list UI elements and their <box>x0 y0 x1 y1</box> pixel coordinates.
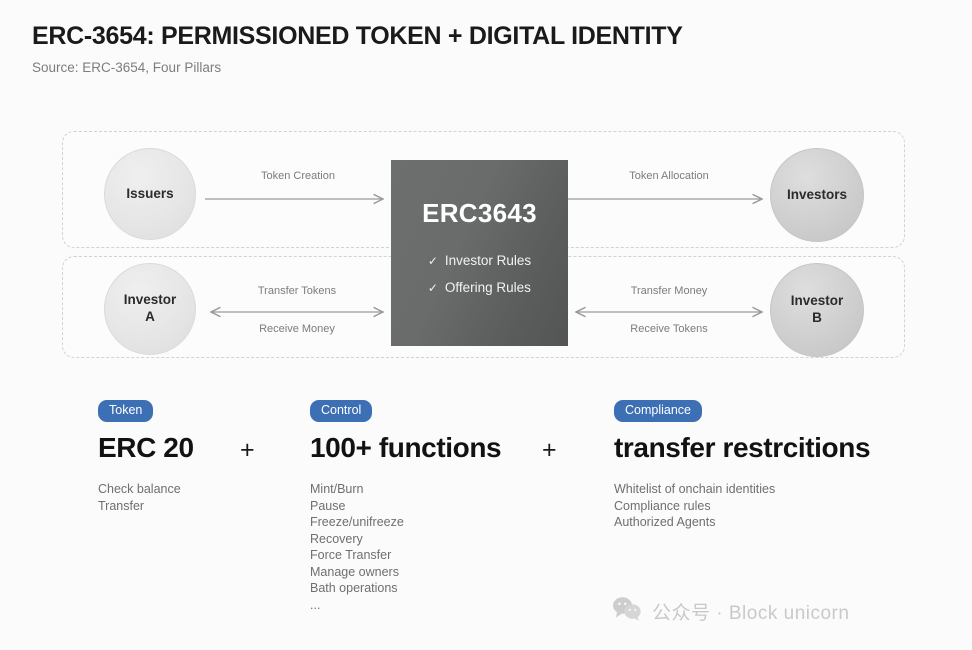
arrow-bidirectional-glyph <box>568 303 770 321</box>
list-item: Force Transfer <box>310 547 570 564</box>
watermark-text: 公众号 · Block unicorn <box>652 598 849 625</box>
wechat-icon-glyph <box>612 596 642 621</box>
node-erc3643: ERC3643 ✓ Investor Rules ✓ Offering Rule… <box>391 160 568 346</box>
list-item: Pause <box>310 498 570 515</box>
diagram-group-issuance <box>62 131 905 248</box>
diagram-group-transfer <box>62 256 905 358</box>
erc3643-rules: ✓ Investor Rules ✓ Offering Rules <box>428 253 531 295</box>
erc3643-rule-investor: ✓ Investor Rules <box>428 253 531 268</box>
page-title: ERC-3654: PERMISSIONED TOKEN + DIGITAL I… <box>32 22 932 51</box>
node-issuers-label: Issuers <box>126 186 173 203</box>
arrow-token-allocation: Token Allocation <box>568 170 770 216</box>
arrow-token-creation: Token Creation <box>205 170 391 216</box>
pillar-token-heading: ERC 20 <box>98 433 248 464</box>
pillar-control: Control 100+ functions Mint/Burn Pause F… <box>310 400 570 630</box>
list-item: Check balance <box>98 481 248 498</box>
node-investor-a: Investor A <box>104 263 196 355</box>
list-item: ... <box>310 597 570 614</box>
arrow-token-allocation-label: Token Allocation <box>568 170 770 182</box>
arrow-transfer-money-label: Transfer Money <box>568 285 770 297</box>
arrow-bidirectional-glyph <box>203 303 391 321</box>
node-issuers: Issuers <box>104 148 196 240</box>
wechat-icon <box>612 596 642 627</box>
list-item: Bath operations <box>310 580 570 597</box>
watermark: 公众号 · Block unicorn <box>612 596 849 627</box>
arrow-right-glyph <box>205 190 391 210</box>
pillar-control-list: Mint/Burn Pause Freeze/unifreeze Recover… <box>310 481 570 614</box>
arrow-receive-money-label: Receive Money <box>203 323 391 335</box>
arrow-investor-a-erc: Transfer Tokens Receive Money <box>203 285 391 345</box>
list-item: Recovery <box>310 531 570 548</box>
pillar-compliance: Compliance transfer restrcitions Whiteli… <box>614 400 944 547</box>
pillar-token-list: Check balance Transfer <box>98 481 248 514</box>
check-icon: ✓ <box>428 282 438 294</box>
page-header: ERC-3654: PERMISSIONED TOKEN + DIGITAL I… <box>32 22 932 76</box>
node-investor-b-line1: Investor <box>791 293 844 308</box>
node-investor-b: Investor B <box>770 263 864 357</box>
plus-separator-1: + <box>240 436 255 465</box>
list-item: Compliance rules <box>614 498 944 515</box>
pillar-compliance-list: Whitelist of onchain identities Complian… <box>614 481 944 531</box>
page-source-line: Source: ERC-3654, Four Pillars <box>32 60 932 76</box>
node-investor-b-line2: B <box>812 310 822 325</box>
pillar-control-badge: Control <box>310 400 372 422</box>
arrow-right-glyph <box>568 190 770 210</box>
arrow-transfer-tokens-label: Transfer Tokens <box>203 285 391 297</box>
arrow-erc-investor-b: Transfer Money Receive Tokens <box>568 285 770 345</box>
plus-separator-2: + <box>542 436 557 465</box>
list-item: Mint/Burn <box>310 481 570 498</box>
arrow-receive-tokens-label: Receive Tokens <box>568 323 770 335</box>
pillar-control-heading: 100+ functions <box>310 433 570 464</box>
pillar-token: Token ERC 20 Check balance Transfer <box>98 400 248 530</box>
node-investor-a-label: Investor A <box>124 292 177 326</box>
arrow-token-creation-label: Token Creation <box>205 170 391 182</box>
pillar-compliance-heading: transfer restrcitions <box>614 433 944 464</box>
pillar-token-badge: Token <box>98 400 153 422</box>
node-investors-label: Investors <box>787 187 847 204</box>
check-icon: ✓ <box>428 255 438 267</box>
erc3643-rule-investor-label: Investor Rules <box>445 253 531 268</box>
erc3643-rule-offering-label: Offering Rules <box>445 280 531 295</box>
pillar-compliance-badge: Compliance <box>614 400 702 422</box>
node-investor-a-line1: Investor <box>124 292 177 307</box>
list-item: Whitelist of onchain identities <box>614 481 944 498</box>
node-investor-a-line2: A <box>145 309 155 324</box>
node-investors: Investors <box>770 148 864 242</box>
node-investor-b-label: Investor B <box>791 293 844 327</box>
erc3643-title: ERC3643 <box>422 198 537 229</box>
list-item: Freeze/unifreeze <box>310 514 570 531</box>
list-item: Manage owners <box>310 564 570 581</box>
erc3643-rule-offering: ✓ Offering Rules <box>428 280 531 295</box>
list-item: Authorized Agents <box>614 514 944 531</box>
list-item: Transfer <box>98 498 248 515</box>
